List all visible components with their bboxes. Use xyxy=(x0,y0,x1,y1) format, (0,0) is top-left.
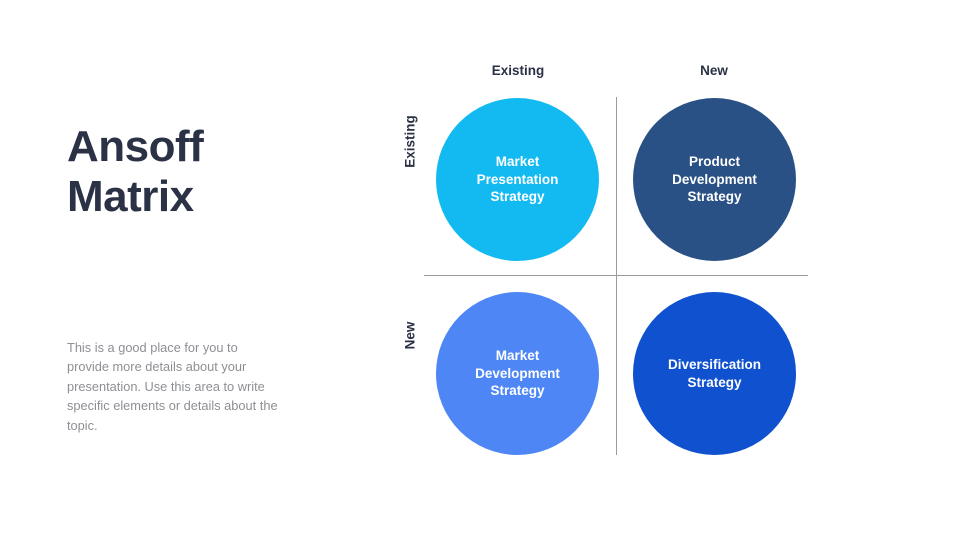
body-paragraph: This is a good place for you to provide … xyxy=(67,338,282,435)
quadrant-label: Product Development Strategy xyxy=(664,153,765,207)
page-title: Ansoff Matrix xyxy=(67,122,367,222)
title-block: Ansoff Matrix xyxy=(67,122,367,222)
row-header-new: New xyxy=(403,291,418,381)
vertical-axis-line xyxy=(616,97,617,455)
quadrant-product-development-strategy[interactable]: Product Development Strategy xyxy=(633,98,796,261)
body-block: This is a good place for you to provide … xyxy=(67,338,282,435)
quadrant-market-development-strategy[interactable]: Market Development Strategy xyxy=(436,292,599,455)
row-header-existing: Existing xyxy=(403,97,418,187)
quadrant-market-presentation-strategy[interactable]: Market Presentation Strategy xyxy=(436,98,599,261)
slide-canvas: Ansoff Matrix This is a good place for y… xyxy=(0,0,980,551)
quadrant-diversification-strategy[interactable]: Diversification Strategy xyxy=(633,292,796,455)
column-header-new: New xyxy=(634,63,794,78)
column-header-existing: Existing xyxy=(438,63,598,78)
ansoff-matrix: Existing New Existing New Market Present… xyxy=(396,50,826,470)
quadrant-label: Diversification Strategy xyxy=(660,356,769,392)
quadrant-label: Market Development Strategy xyxy=(467,347,568,401)
quadrant-label: Market Presentation Strategy xyxy=(469,153,567,207)
horizontal-axis-line xyxy=(424,275,808,276)
